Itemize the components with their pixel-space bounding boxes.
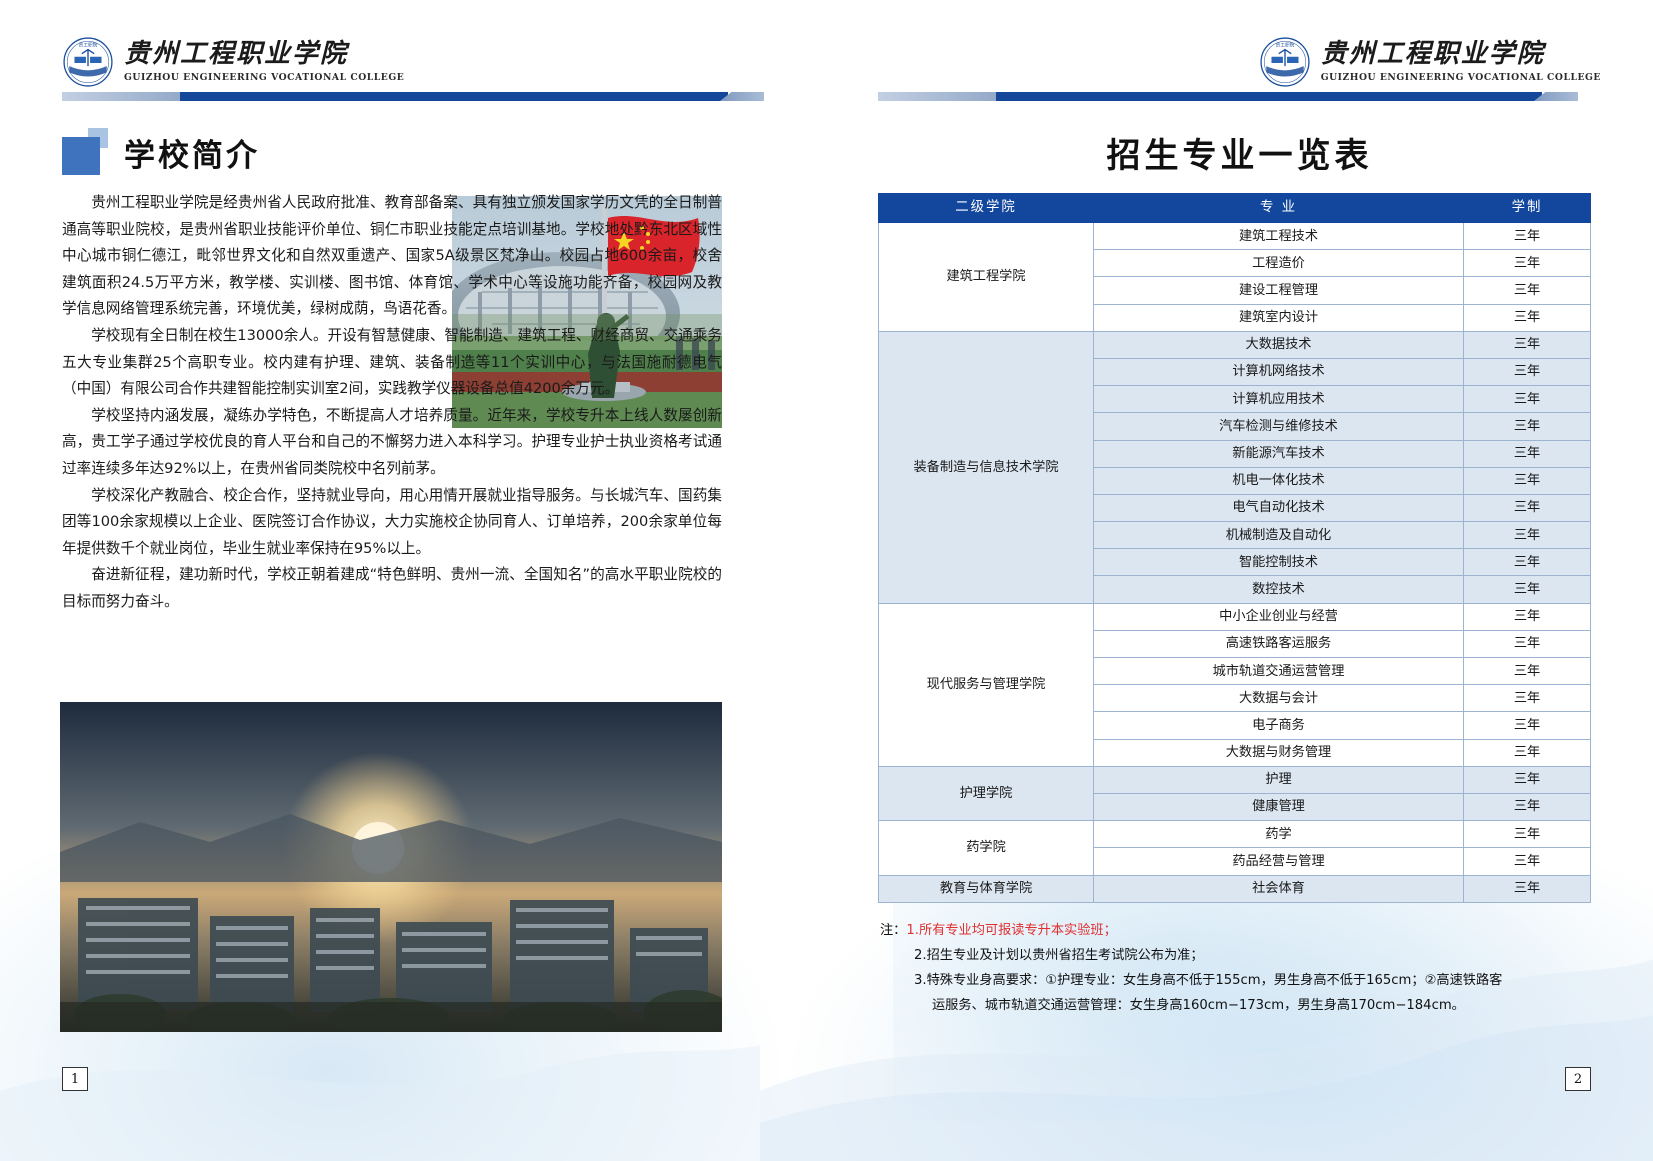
majors-table: 二级学院 专 业 学制 建筑工程学院建筑工程技术三年工程造价三年建设工程管理三年… (878, 193, 1591, 903)
cell-major: 智能控制技术 (1094, 549, 1464, 576)
cell-years: 三年 (1464, 223, 1591, 250)
intro-paragraph-3: 学校坚持内涵发展，凝练办学特色，不断提高人才培养质量。近年来，学校专升本上线人数… (62, 403, 722, 483)
note-3-text: 特殊专业身高要求：①护理专业：女生身高不低于155cm，男生身高不低于165cm… (927, 968, 1503, 993)
cell-years: 三年 (1464, 304, 1591, 331)
cell-years: 三年 (1464, 848, 1591, 875)
col-header-college: 二级学院 (879, 194, 1094, 223)
section-title-text: 学校简介 (124, 141, 260, 174)
cell-years: 三年 (1464, 685, 1591, 712)
majors-table-body: 建筑工程学院建筑工程技术三年工程造价三年建设工程管理三年建筑室内设计三年装备制造… (879, 223, 1591, 903)
cell-major: 建筑室内设计 (1094, 304, 1464, 331)
cell-years: 三年 (1464, 766, 1591, 793)
intro-paragraph-5: 奋进新征程，建功新时代，学校正朝着建成“特色鲜明、贵州一流、全国知名”的高水平职… (62, 562, 722, 615)
brand-name-en: GUIZHOU ENGINEERING VOCATIONAL COLLEGE (124, 72, 404, 83)
cell-college: 建筑工程学院 (879, 223, 1094, 332)
cell-years: 三年 (1464, 549, 1591, 576)
table-row: 现代服务与管理学院中小企业创业与经营三年 (879, 603, 1591, 630)
notes-label: 注： (880, 918, 906, 943)
cell-years: 三年 (1464, 739, 1591, 766)
square-accent-icon (62, 128, 108, 174)
cell-years: 三年 (1464, 630, 1591, 657)
cell-years: 三年 (1464, 413, 1591, 440)
college-seal-icon: 贵工职院 (62, 36, 114, 88)
right-page: 贵工职院 贵州工程职业学院 GUIZHOU ENGINEERING VOCATI… (826, 0, 1653, 1161)
majors-table-container: 二级学院 专 业 学制 建筑工程学院建筑工程技术三年工程造价三年建设工程管理三年… (878, 193, 1590, 903)
note-1-num: 1. (906, 918, 919, 943)
page-title: 招生专业一览表 (826, 128, 1653, 177)
note-row-3: 3. 特殊专业身高要求：①护理专业：女生身高不低于155cm，男生身高不低于16… (880, 968, 1610, 993)
cell-major: 社会体育 (1094, 875, 1464, 902)
cell-major: 建筑工程技术 (1094, 223, 1464, 250)
brand-name-cn: 贵州工程职业学院 (1321, 41, 1601, 68)
cell-major: 计算机应用技术 (1094, 386, 1464, 413)
cell-years: 三年 (1464, 522, 1591, 549)
note-2-num: 2. (914, 943, 927, 968)
cell-major: 机械制造及自动化 (1094, 522, 1464, 549)
cell-major: 中小企业创业与经营 (1094, 603, 1464, 630)
cell-years: 三年 (1464, 467, 1591, 494)
cell-years: 三年 (1464, 603, 1591, 630)
cell-years: 三年 (1464, 576, 1591, 603)
cell-years: 三年 (1464, 712, 1591, 739)
table-notes: 注： 1. 所有专业均可报读专升本实验班； 2. 招生专业及计划以贵州省招生考试… (880, 918, 1610, 1018)
cell-major: 城市轨道交通运营管理 (1094, 658, 1464, 685)
cell-years: 三年 (1464, 277, 1591, 304)
note-row-1: 注： 1. 所有专业均可报读专升本实验班； (880, 918, 1610, 943)
table-row: 药学院药学三年 (879, 821, 1591, 848)
cell-major: 数控技术 (1094, 576, 1464, 603)
page-number-left: 1 (62, 1067, 88, 1091)
cell-major: 大数据与会计 (1094, 685, 1464, 712)
col-header-major: 专 业 (1094, 194, 1464, 223)
brochure-spread: 贵工职院 贵州工程职业学院 GUIZHOU ENGINEERING VOCATI… (0, 0, 1653, 1161)
cell-major: 计算机网络技术 (1094, 358, 1464, 385)
cell-major: 建设工程管理 (1094, 277, 1464, 304)
left-page: 贵工职院 贵州工程职业学院 GUIZHOU ENGINEERING VOCATI… (0, 0, 826, 1161)
cell-years: 三年 (1464, 386, 1591, 413)
table-row: 装备制造与信息技术学院大数据技术三年 (879, 331, 1591, 358)
note-3-continuation: 运服务、城市轨道交通运营管理：女生身高160cm−173cm，男生身高170cm… (880, 993, 1610, 1018)
cell-major: 药学 (1094, 821, 1464, 848)
cell-major: 护理 (1094, 766, 1464, 793)
cell-major: 药品经营与管理 (1094, 848, 1464, 875)
cell-college: 药学院 (879, 821, 1094, 875)
masthead-left: 贵工职院 贵州工程职业学院 GUIZHOU ENGINEERING VOCATI… (62, 36, 404, 88)
cell-major: 电气自动化技术 (1094, 494, 1464, 521)
cell-years: 三年 (1464, 658, 1591, 685)
cell-years: 三年 (1464, 875, 1591, 902)
cell-major: 大数据技术 (1094, 331, 1464, 358)
intro-paragraph-2: 学校现有全日制在校生13000余人。开设有智慧健康、智能制造、建筑工程、财经商贸… (62, 323, 722, 403)
brand-name-cn: 贵州工程职业学院 (124, 41, 404, 68)
college-seal-icon: 贵工职院 (1259, 36, 1311, 88)
cell-years: 三年 (1464, 358, 1591, 385)
cell-major: 工程造价 (1094, 250, 1464, 277)
brand-name-en: GUIZHOU ENGINEERING VOCATIONAL COLLEGE (1321, 72, 1601, 83)
note-2-text: 招生专业及计划以贵州省招生考试院公布为准； (927, 943, 1204, 968)
cell-college: 教育与体育学院 (879, 875, 1094, 902)
masthead-right: 贵工职院 贵州工程职业学院 GUIZHOU ENGINEERING VOCATI… (1259, 36, 1601, 88)
page-number-right: 2 (1565, 1067, 1591, 1091)
intro-paragraph-1: 贵州工程职业学院是经贵州省人民政府批准、教育部备案、具有独立颁发国家学历文凭的全… (62, 190, 722, 323)
cell-major: 大数据与财务管理 (1094, 739, 1464, 766)
cell-college: 护理学院 (879, 766, 1094, 820)
table-row: 教育与体育学院社会体育三年 (879, 875, 1591, 902)
note-row-2: 2. 招生专业及计划以贵州省招生考试院公布为准； (880, 943, 1610, 968)
cell-major: 电子商务 (1094, 712, 1464, 739)
note-1-text: 所有专业均可报读专升本实验班； (919, 918, 1117, 943)
cell-major: 汽车检测与维修技术 (1094, 413, 1464, 440)
col-header-years: 学制 (1464, 194, 1591, 223)
cell-major: 健康管理 (1094, 793, 1464, 820)
header-rule-left (62, 92, 764, 101)
cell-years: 三年 (1464, 793, 1591, 820)
table-header-row: 二级学院 专 业 学制 (879, 194, 1591, 223)
cell-college: 现代服务与管理学院 (879, 603, 1094, 766)
intro-body-text: 贵州工程职业学院是经贵州省人民政府批准、教育部备案、具有独立颁发国家学历文凭的全… (62, 190, 722, 616)
cell-major: 机电一体化技术 (1094, 467, 1464, 494)
cell-major: 高速铁路客运服务 (1094, 630, 1464, 657)
cell-years: 三年 (1464, 250, 1591, 277)
header-rule-right (878, 92, 1578, 101)
table-row: 护理学院护理三年 (879, 766, 1591, 793)
cell-years: 三年 (1464, 440, 1591, 467)
cell-major: 新能源汽车技术 (1094, 440, 1464, 467)
cell-years: 三年 (1464, 331, 1591, 358)
table-row: 建筑工程学院建筑工程技术三年 (879, 223, 1591, 250)
note-3-num: 3. (914, 968, 927, 993)
cell-years: 三年 (1464, 494, 1591, 521)
section-heading: 学校简介 (62, 128, 260, 174)
intro-paragraph-4: 学校深化产教融合、校企合作，坚持就业导向，用心用情开展就业指导服务。与长城汽车、… (62, 483, 722, 563)
cell-years: 三年 (1464, 821, 1591, 848)
cell-college: 装备制造与信息技术学院 (879, 331, 1094, 603)
campus-aerial-sunset-photo (60, 702, 722, 1032)
